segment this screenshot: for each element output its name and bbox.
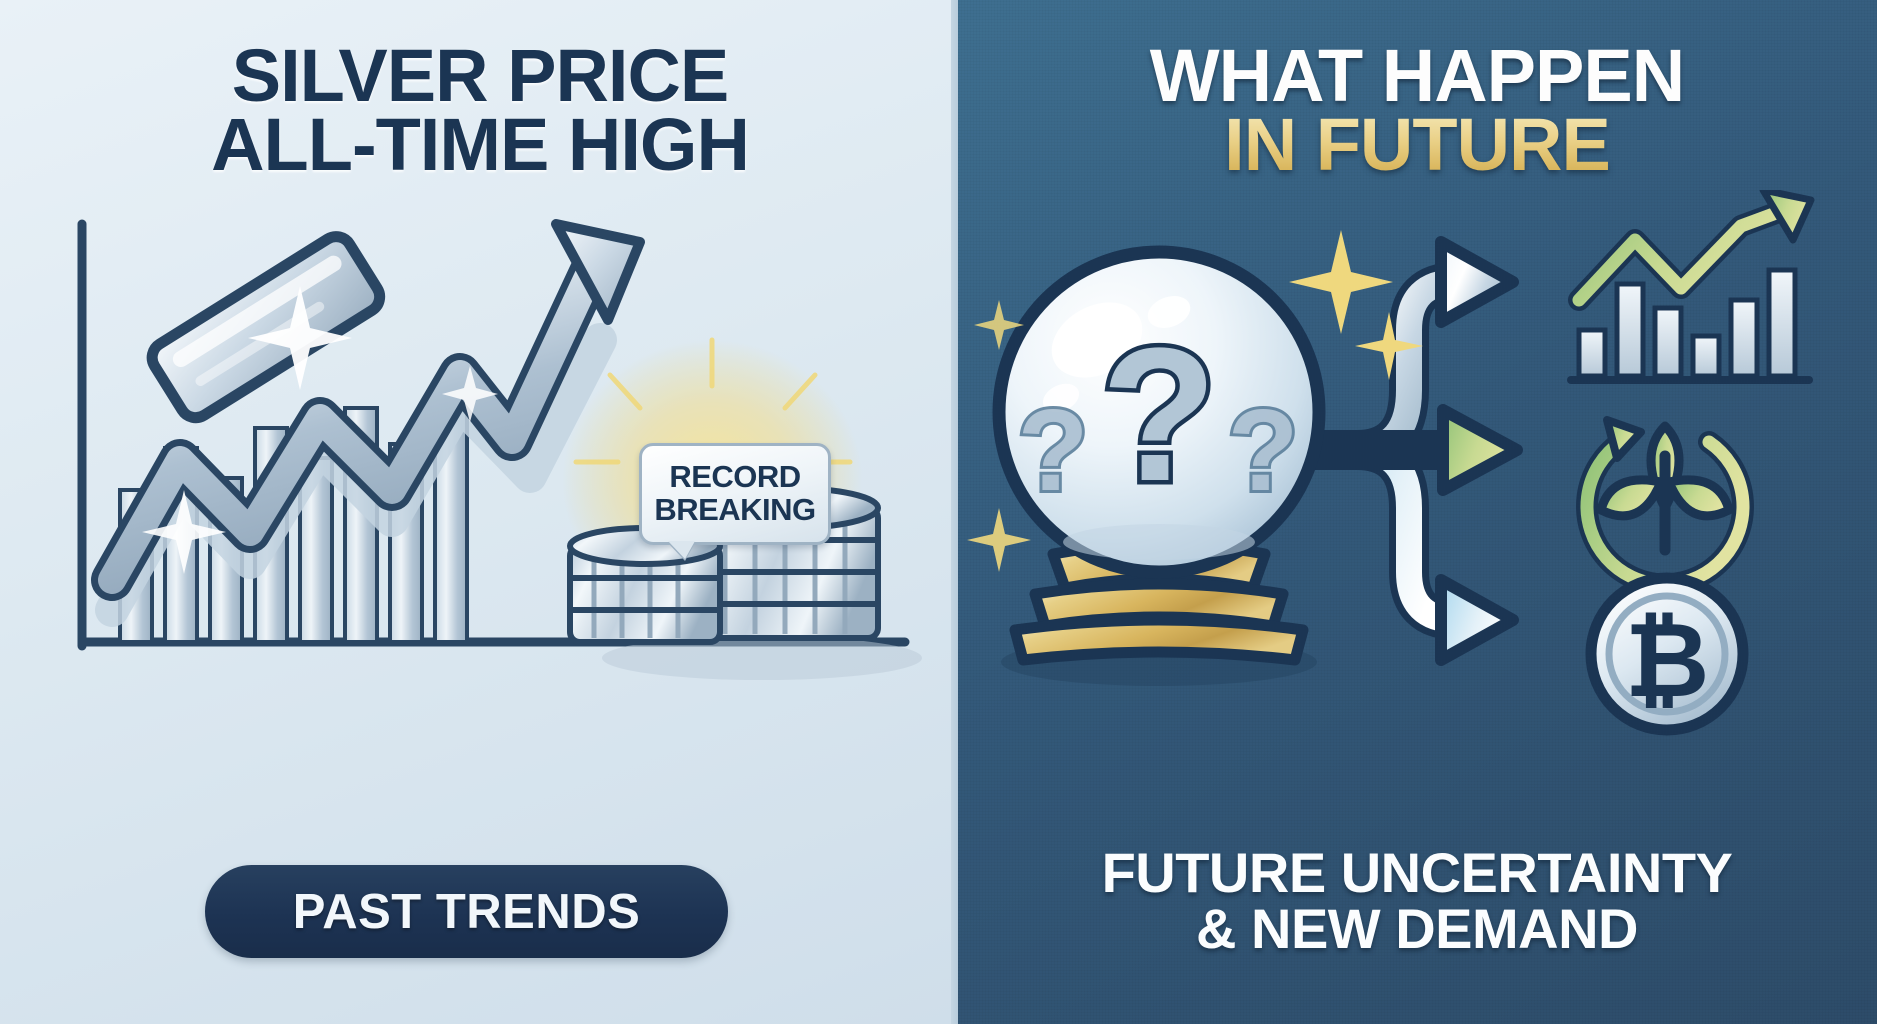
infographic-canvas: SILVER PRICE ALL-TIME HIGH RECORD BREAKI…: [0, 0, 1877, 1024]
record-breaking-badge: RECORD BREAKING: [639, 443, 831, 545]
svg-text:?: ?: [1228, 385, 1299, 515]
record-badge-line2: BREAKING: [654, 494, 815, 527]
record-badge-line1: RECORD: [669, 461, 800, 494]
right-title-line1: WHAT HAPPEN: [957, 42, 1877, 111]
badge-pointer: [668, 541, 695, 559]
right-title: WHAT HAPPEN IN FUTURE: [957, 42, 1877, 180]
right-title-line2: IN FUTURE: [957, 111, 1877, 180]
left-title-line2: ALL-TIME HIGH: [211, 103, 749, 186]
right-illustration: ? ? ?: [957, 190, 1877, 810]
svg-text:?: ?: [1018, 385, 1089, 515]
left-title: SILVER PRICE ALL-TIME HIGH: [40, 42, 920, 180]
bitcoin-coin-icon: ₿: [1591, 578, 1743, 730]
past-trends-button[interactable]: PAST TRENDS: [205, 865, 728, 958]
past-trends-label: PAST TRENDS: [293, 884, 641, 940]
crystal-ball-icon: ? ? ?: [999, 252, 1319, 572]
svg-text:₿: ₿: [1625, 603, 1710, 719]
right-caption-line1: FUTURE UNCERTAINTY: [957, 845, 1877, 901]
svg-text:?: ?: [1101, 309, 1217, 521]
right-caption-line2: & NEW DEMAND: [957, 901, 1877, 957]
right-caption: FUTURE UNCERTAINTY & NEW DEMAND: [957, 845, 1877, 957]
arrow-branch-blue-icon: [1305, 450, 1513, 660]
silver-bar-icon: [146, 231, 386, 424]
bar-chart-growth-icon: [1571, 190, 1811, 380]
leaf-recycle-icon: [1587, 420, 1743, 584]
